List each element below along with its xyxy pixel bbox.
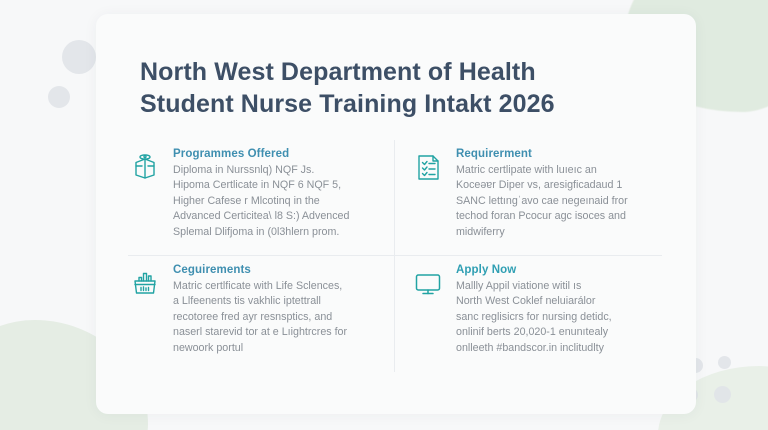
text-line: Splemal Dlifjoma in (0l3hlern prom.: [173, 225, 380, 240]
info-card-text: Mallly Appil viatione witil ıs North Wes…: [456, 279, 648, 356]
info-card-heading: Ceguirements: [173, 264, 380, 276]
info-card-body: Requirerment Matric certlipate with luıe…: [456, 148, 648, 240]
text-line: recotoree fred ayr resnsptics, and: [173, 310, 380, 325]
text-line: Advanced Certicitea\ l8 S:) Advenced: [173, 209, 380, 224]
decorative-dot: [718, 356, 731, 369]
decorative-dot: [62, 40, 96, 74]
info-card-requirement: Requirerment Matric certlipate with luıe…: [395, 140, 662, 256]
text-line: a Llfeenents tis vakhlic iptettrall: [173, 294, 380, 309]
info-card-text: Matric certlipate with luıeıc an Koceǝɐr…: [456, 163, 648, 240]
text-line: midwiferry: [456, 225, 648, 240]
page-title: North West Department of Health Student …: [140, 56, 660, 120]
text-line: North West Coklef neluiarálor: [456, 294, 648, 309]
text-line: Mallly Appil viatione witil ıs: [456, 279, 648, 294]
text-line: Koceǝɐr Diper vs, aresigficadaud 1: [456, 178, 648, 193]
chart-basket-icon: [128, 266, 162, 300]
text-line: Matric certlipate with luıeıc an: [456, 163, 648, 178]
info-grid: Programmes Offered Diploma in Nurssnlq) …: [128, 140, 662, 372]
info-card-ceguirements: Ceguirements Matric certlficate with Lif…: [128, 256, 395, 372]
info-card-heading: Programmes Offered: [173, 148, 380, 160]
decorative-dot: [48, 86, 70, 108]
text-line: SANC lettıngˈavo cae negeınaid fror: [456, 194, 648, 209]
text-line: newoork portul: [173, 341, 380, 356]
info-card-programmes-offered: Programmes Offered Diploma in Nurssnlq) …: [128, 140, 395, 256]
text-line: techod foran Pcocur agc isoces and: [456, 209, 648, 224]
text-line: naserl starevid tor at e Lıightrcres for: [173, 325, 380, 340]
text-line: Hipoma Certlicate in NQF 6 NQF 5,: [173, 178, 380, 193]
text-line: onlinif berts 20,020-1 enunıtealy: [456, 325, 648, 340]
title-line-2: Student Nurse Training Intakt 2026: [140, 88, 660, 120]
text-line: Matric certlficate with Life Sclences,: [173, 279, 380, 294]
text-line: Diploma in Nurssnlq) NQF Js.: [173, 163, 380, 178]
infographic-poster: North West Department of Health Student …: [0, 0, 768, 430]
monitor-icon: [411, 266, 445, 300]
checklist-document-icon: [411, 150, 445, 184]
decorative-dot: [714, 386, 731, 403]
info-card-body: Ceguirements Matric certlficate with Lif…: [173, 264, 380, 356]
info-card-apply-now: Apply Now Mallly Appil viatione witil ıs…: [395, 256, 662, 372]
text-line: sanc reglisicrs for nursing detidc,: [456, 310, 648, 325]
info-card-text: Diploma in Nurssnlq) NQF Js. Hipoma Cert…: [173, 163, 380, 240]
text-line: onlleeth #bandscor.in inclitudlty: [456, 341, 648, 356]
text-line: Higher Cafese r Mlcotinq in the: [173, 194, 380, 209]
info-card-heading: Apply Now: [456, 264, 648, 276]
info-card-body: Programmes Offered Diploma in Nurssnlq) …: [173, 148, 380, 240]
title-line-1: North West Department of Health: [140, 56, 660, 88]
info-card-text: Matric certlficate with Life Sclences, a…: [173, 279, 380, 356]
info-card-heading: Requirerment: [456, 148, 648, 160]
open-book-icon: [128, 150, 162, 184]
info-card-body: Apply Now Mallly Appil viatione witil ıs…: [456, 264, 648, 356]
